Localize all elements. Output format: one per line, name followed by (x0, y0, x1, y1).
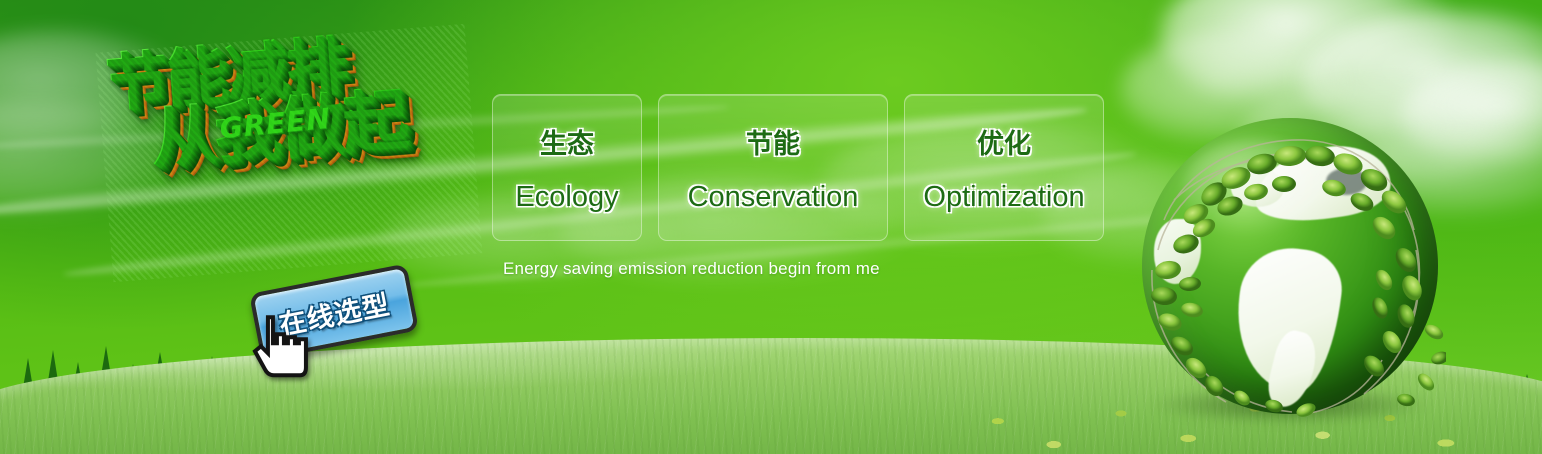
tagline-text: Energy saving emission reduction begin f… (503, 259, 880, 279)
feature-box-group: 生态 Ecology 节能 Conservation 优化 Optimizati… (492, 94, 1104, 241)
feature-cn-label: 优化 (977, 122, 1031, 161)
continent-west-edge (1154, 219, 1201, 284)
globe-highlight (1183, 139, 1337, 240)
feature-cn-label: 生态 (540, 122, 594, 161)
headline-group: 节能减排 从我做起 GREEN (96, 24, 483, 282)
hand-pointer-icon (248, 311, 310, 385)
feature-box-optimization[interactable]: 优化 Optimization (904, 94, 1104, 241)
feature-cn-label: 节能 (746, 122, 800, 161)
ivy-covered-globe-icon (1142, 118, 1438, 414)
hand-cursor-svg (248, 311, 310, 385)
feature-box-conservation[interactable]: 节能 Conservation (658, 94, 888, 241)
green-energy-banner: 节能减排 从我做起 GREEN 在线选型 生态 Ecology 节能 Conse… (0, 0, 1542, 454)
feature-box-ecology[interactable]: 生态 Ecology (492, 94, 642, 241)
feature-en-label: Optimization (923, 181, 1084, 214)
feature-en-label: Ecology (515, 181, 618, 214)
feature-en-label: Conservation (688, 181, 859, 214)
globe-illustration (1142, 118, 1438, 414)
